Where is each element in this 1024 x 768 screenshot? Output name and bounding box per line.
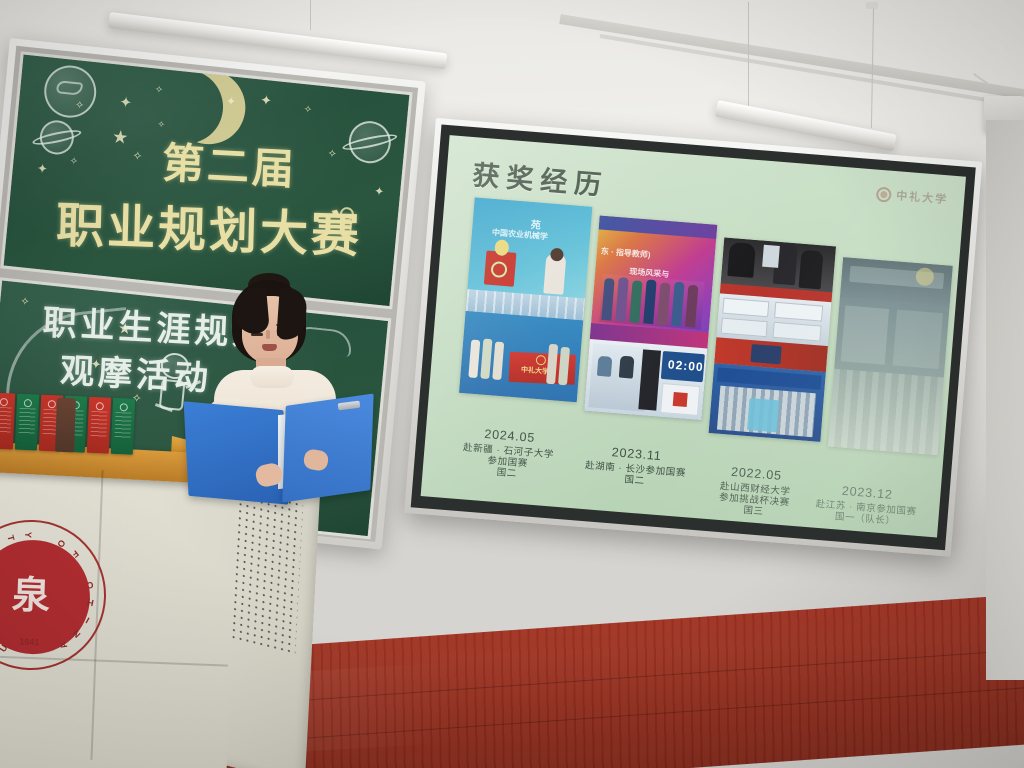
slide-caption-1: 2024.05 赴新疆 · 石河子大学 参加国赛 国二 <box>443 424 575 484</box>
lectern-speaker-grille <box>230 486 303 654</box>
star-icon: ✧ <box>303 104 312 116</box>
water-bottle <box>55 398 76 453</box>
folder-right-cover <box>282 394 373 503</box>
light-hanger-wire-1 <box>310 0 311 30</box>
chalkboard-top-panel: ✦ ✧ ✧ ✦ ✦ ✧ ★ ✧ ✧ ✦ ✧ ✧ ✦ 第二届 职业规划大赛 <box>0 51 412 309</box>
nose <box>266 330 270 339</box>
certificate-folder <box>111 398 135 455</box>
mouth <box>262 344 277 351</box>
star-icon: ✦ <box>225 94 236 109</box>
turtleneck-collar <box>250 366 294 388</box>
presentation-slide: 获奖经历 中礼大学 苑 中国农业机械学 <box>421 135 966 537</box>
right-wall-pillar <box>986 120 1024 680</box>
logo-text: 中礼大学 <box>896 187 949 207</box>
chalkboard-subtitle-line2: 观摩活动 <box>59 343 213 400</box>
star-icon: ✦ <box>259 92 272 110</box>
star-icon: ✧ <box>74 98 84 112</box>
university-emblem: 泉 1941 UNIVERSITY OF CHINA <box>0 517 109 672</box>
astronaut-small-icon <box>338 206 355 237</box>
slide-photo-2: 东 · 指导教师) 现场风采与 <box>584 215 717 420</box>
star-icon: ✧ <box>69 156 78 168</box>
classroom-scene: ✦ ✧ ✧ ✦ ✦ ✧ ★ ✧ ✧ ✦ ✧ ✧ ✦ 第二届 职业规划大赛 <box>0 0 1024 768</box>
star-icon: ✧ <box>132 148 143 163</box>
light-ceiling-mount <box>866 2 878 9</box>
projection-screen: 获奖经历 中礼大学 苑 中国农业机械学 <box>404 118 982 557</box>
emblem-ring-text: UNIVERSITY OF CHINA <box>0 519 107 670</box>
slide-caption-3: 2022.05 赴山西财经大学 参加挑战杯决赛 国三 <box>692 462 818 521</box>
slide-photo-4 <box>828 257 953 455</box>
star-icon: ★ <box>111 126 129 149</box>
slide-caption-2: 2023.11 赴湖南 · 长沙参加国赛 国二 <box>568 442 703 491</box>
folder-left-cover <box>184 401 289 504</box>
star-icon: ✧ <box>20 295 30 309</box>
certificate-folder <box>15 394 39 451</box>
chalkboard-title-line2: 职业规划大赛 <box>56 185 363 266</box>
slide-photo-3 <box>709 238 836 442</box>
certificate-folder <box>0 393 15 450</box>
photo2-timer: 02:00 <box>667 357 704 374</box>
certificate-folder <box>87 397 111 454</box>
photo1-banner-text: 中礼大学 <box>521 365 550 377</box>
slide-title: 获奖经历 <box>471 153 610 203</box>
star-icon: ✧ <box>154 84 163 96</box>
star-icon: ✧ <box>327 147 337 161</box>
star-icon: ✦ <box>374 184 385 199</box>
presenter <box>196 278 356 493</box>
slide-caption-4: 2023.12 赴江苏 · 南京参加国赛 国一（队长） <box>804 481 929 529</box>
university-logo: 中礼大学 <box>876 186 949 208</box>
screen-bezel: 获奖经历 中礼大学 苑 中国农业机械学 <box>411 124 976 550</box>
star-icon: ✦ <box>119 93 133 112</box>
star-icon: ✦ <box>36 161 48 178</box>
slide-photo-1: 苑 中国农业机械学 中礼大学 <box>459 197 592 402</box>
light-hanger-wire-2 <box>748 2 749 106</box>
blue-folder <box>186 398 372 502</box>
logo-seal-icon <box>876 186 892 202</box>
chalkboard-title-line1: 第二届 <box>161 129 298 197</box>
slide-photo-row: 苑 中国农业机械学 中礼大学 <box>448 197 950 450</box>
